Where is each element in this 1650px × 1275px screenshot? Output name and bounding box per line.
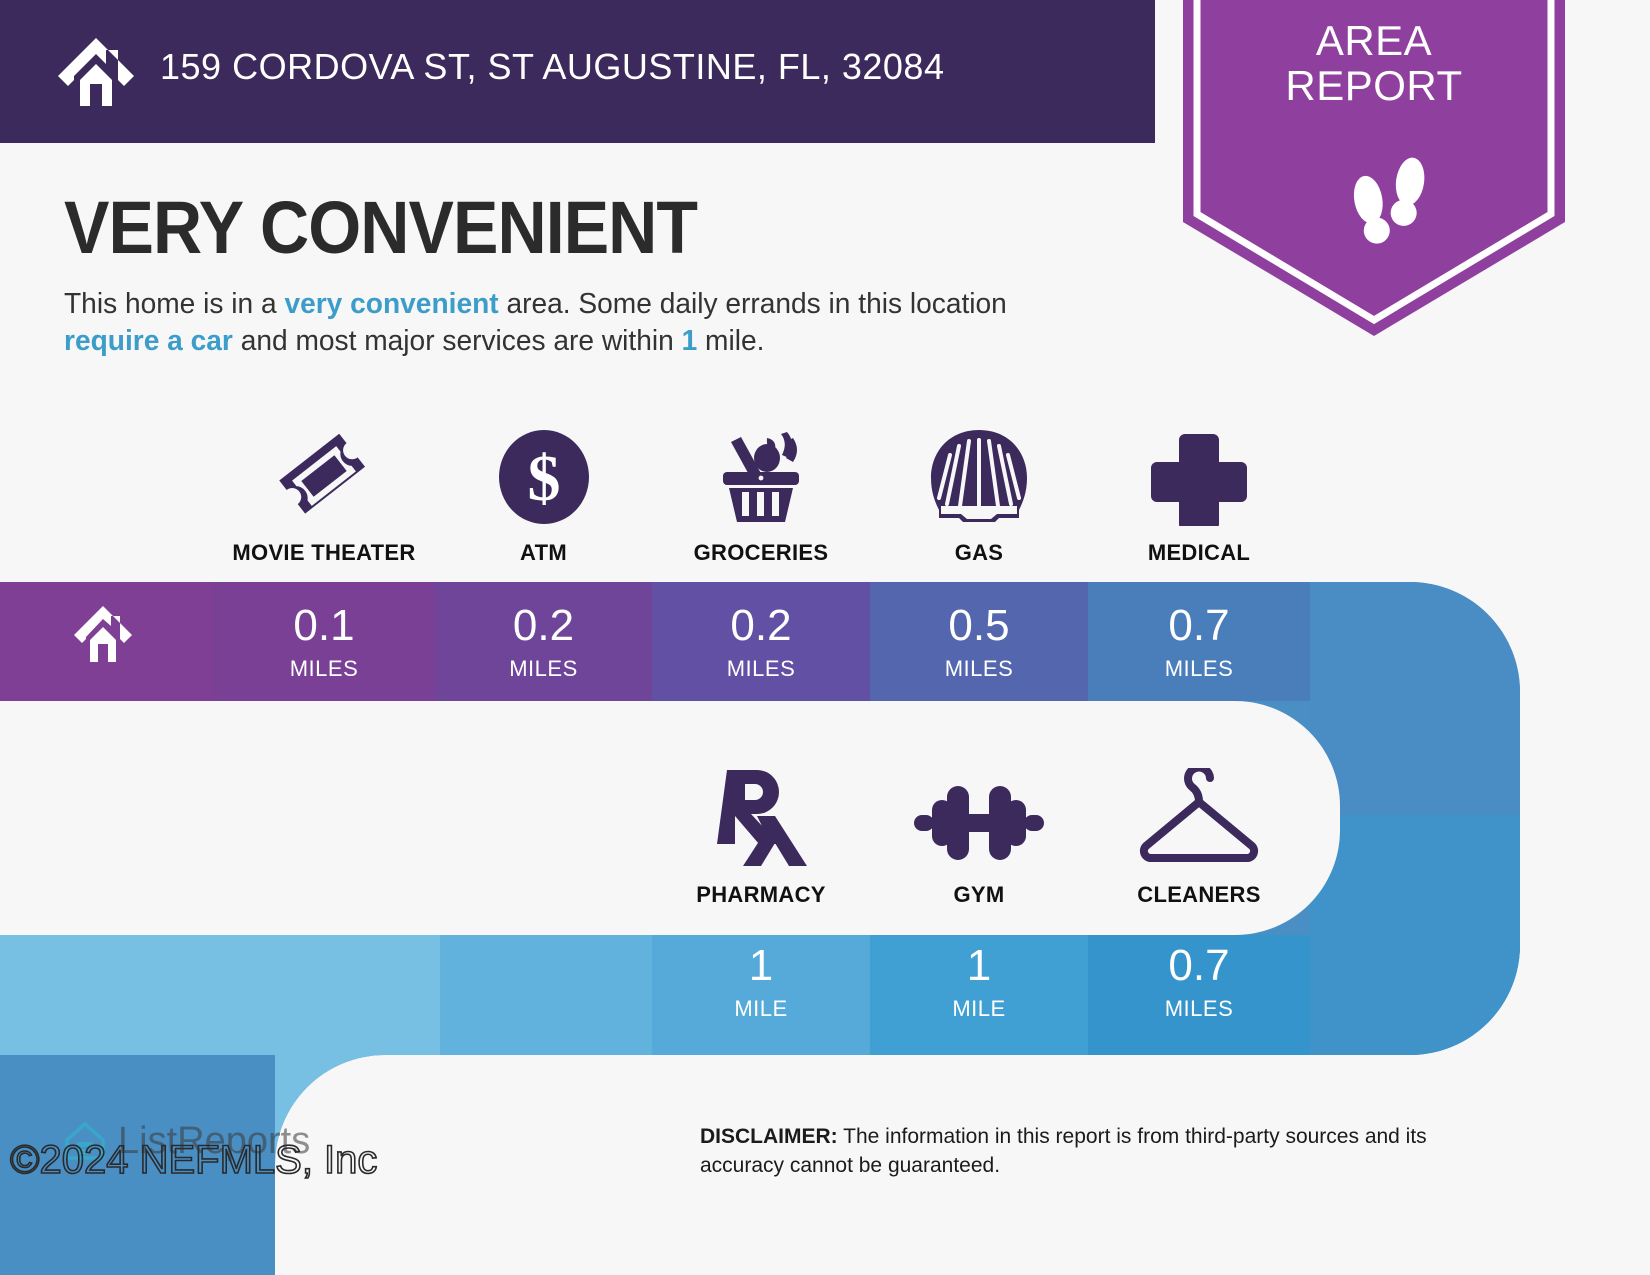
distance-gas: 0.5 MILES: [870, 604, 1088, 682]
home-icon: [72, 604, 134, 664]
amenity-gym[interactable]: GYM: [870, 762, 1088, 908]
distance-atm: 0.2 MILES: [435, 604, 652, 682]
medical-cross-icon: [1088, 420, 1310, 526]
amenity-label: GAS: [870, 540, 1088, 566]
distance-value: 0.2: [652, 604, 870, 648]
distance-unit: MILE: [652, 996, 870, 1022]
mls-copyright-watermark: ©2024 NEFMLS, Inc: [10, 1138, 377, 1183]
summary-part-1: This home is in a: [64, 288, 284, 320]
rx-icon: [652, 762, 870, 868]
grocery-basket-icon: [652, 420, 870, 526]
amenity-label: CLEANERS: [1088, 882, 1310, 908]
distance-value: 0.1: [213, 604, 435, 648]
amenity-groceries[interactable]: GROCERIES: [652, 420, 870, 566]
distance-unit: MILES: [652, 656, 870, 682]
distance-cleaners: 0.7 MILES: [1088, 944, 1310, 1022]
summary-part-3: and most major services are within: [233, 325, 682, 357]
area-report-page: 159 CORDOVA ST, ST AUGUSTINE, FL, 32084 …: [0, 0, 1650, 1275]
shell-icon: [870, 420, 1088, 526]
amenity-pharmacy[interactable]: PHARMACY: [652, 762, 870, 908]
dollar-circle-icon: $: [435, 420, 652, 526]
distance-unit: MILES: [1088, 656, 1310, 682]
summary-part-2: area. Some daily errands in this locatio…: [499, 288, 1007, 320]
distance-value: 0.7: [1088, 944, 1310, 988]
distance-pharmacy: 1 MILE: [652, 944, 870, 1022]
distance-unit: MILES: [213, 656, 435, 682]
summary-highlight-2: require a car: [64, 325, 233, 357]
svg-text:$: $: [527, 442, 560, 515]
property-address: 159 CORDOVA ST, ST AUGUSTINE, FL, 32084: [160, 46, 944, 88]
hanger-icon: [1088, 762, 1310, 868]
badge-line-2: REPORT: [1183, 63, 1565, 108]
distance-unit: MILES: [1088, 996, 1310, 1022]
summary-highlight-1: very convenient: [284, 288, 498, 320]
disclaimer: DISCLAIMER: The information in this repo…: [700, 1123, 1500, 1181]
amenity-atm[interactable]: $ ATM: [435, 420, 652, 566]
area-report-badge: AREA REPORT: [1183, 0, 1565, 336]
amenity-gas[interactable]: GAS: [870, 420, 1088, 566]
disclaimer-label: DISCLAIMER:: [700, 1125, 838, 1148]
distance-value: 1: [870, 944, 1088, 988]
amenity-label: MEDICAL: [1088, 540, 1310, 566]
badge-title: AREA REPORT: [1183, 18, 1565, 109]
badge-line-1: AREA: [1183, 18, 1565, 63]
distance-groceries: 0.2 MILES: [652, 604, 870, 682]
header-bar: 159 CORDOVA ST, ST AUGUSTINE, FL, 32084: [0, 0, 1155, 143]
distance-value: 0.7: [1088, 604, 1310, 648]
distance-gym: 1 MILE: [870, 944, 1088, 1022]
summary-text: This home is in a very convenient area. …: [64, 286, 1092, 360]
amenity-label: GROCERIES: [652, 540, 870, 566]
distance-value: 1: [652, 944, 870, 988]
page-title: VERY CONVENIENT: [64, 185, 697, 270]
distance-medical: 0.7 MILES: [1088, 604, 1310, 682]
summary-highlight-3: 1: [682, 325, 698, 357]
dumbbell-icon: [870, 762, 1088, 868]
home-icon: [56, 32, 136, 112]
ticket-icon: [213, 420, 435, 526]
amenity-cleaners[interactable]: CLEANERS: [1088, 762, 1310, 908]
amenity-label: MOVIE THEATER: [213, 540, 435, 566]
distance-value: 0.5: [870, 604, 1088, 648]
amenity-label: PHARMACY: [652, 882, 870, 908]
amenity-movie-theater[interactable]: MOVIE THEATER: [213, 420, 435, 566]
distance-value: 0.2: [435, 604, 652, 648]
distance-unit: MILES: [435, 656, 652, 682]
distance-unit: MILE: [870, 996, 1088, 1022]
amenity-medical[interactable]: MEDICAL: [1088, 420, 1310, 566]
amenity-label: GYM: [870, 882, 1088, 908]
amenity-label: ATM: [435, 540, 652, 566]
distance-unit: MILES: [870, 656, 1088, 682]
distance-movie-theater: 0.1 MILES: [213, 604, 435, 682]
summary-part-4: mile.: [697, 325, 764, 357]
